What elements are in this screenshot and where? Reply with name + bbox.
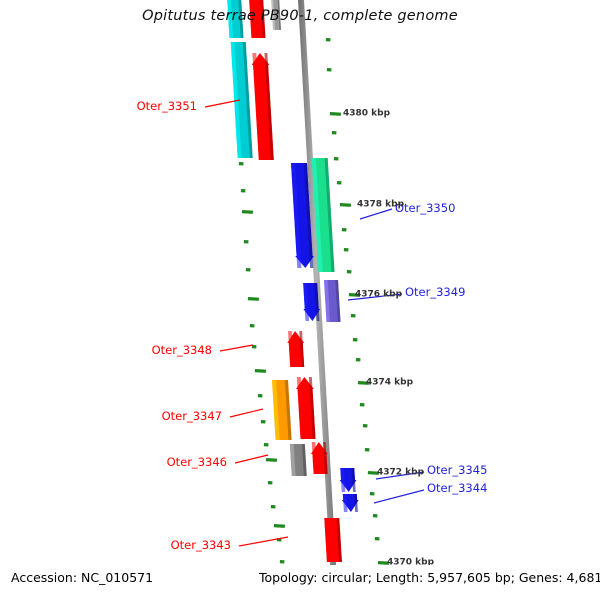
green-tick-right-2 xyxy=(330,112,341,116)
gene-slate-3349[interactable] xyxy=(324,280,341,322)
green-tick-left-17 xyxy=(271,505,276,508)
scale-label-4: 4372 kbp xyxy=(377,468,425,478)
green-tick-right-9 xyxy=(347,270,352,273)
leader-line-Oter_3347 xyxy=(230,409,263,417)
genome-viewer-window: Opitutus terrae PB90-1, complete genome … xyxy=(0,0,600,600)
green-tick-left-13 xyxy=(261,420,266,423)
green-tick-left-11 xyxy=(255,369,266,373)
green-tick-right-11 xyxy=(351,314,356,317)
gene-blue-3344-shadow xyxy=(354,494,358,512)
gene-label-Oter_3351[interactable]: Oter_3351 xyxy=(137,99,197,113)
topology-text: Topology: circular; Length: 5,957,605 bp… xyxy=(259,570,600,585)
gene-label-Oter_3347[interactable]: Oter_3347 xyxy=(162,409,222,423)
gene-cyan-3351[interactable] xyxy=(231,42,253,158)
green-tick-left-3 xyxy=(239,162,244,165)
green-tick-left-15 xyxy=(266,458,277,462)
gene-label-Oter_3345[interactable]: Oter_3345 xyxy=(427,463,487,477)
gene-red-3346b[interactable] xyxy=(311,442,328,474)
scale-label-3: 4374 kbp xyxy=(366,378,414,388)
green-tick-right-6 xyxy=(340,203,351,207)
green-tick-right-0 xyxy=(326,38,331,41)
green-tick-left-12 xyxy=(258,394,263,397)
gene-label-Oter_3348[interactable]: Oter_3348 xyxy=(152,343,212,357)
green-tick-left-4 xyxy=(241,189,246,192)
gene-label-Oter_3344[interactable]: Oter_3344 xyxy=(427,481,487,495)
green-tick-right-7 xyxy=(342,228,347,231)
green-tick-right-15 xyxy=(360,403,365,406)
scale-label-1: 4378 kbp xyxy=(357,200,405,210)
scale-label-2: 4376 kbp xyxy=(355,290,403,300)
accession-text: Accession: NC_010571 xyxy=(11,570,153,585)
status-bar: Accession: NC_010571 Topology: circular;… xyxy=(0,570,600,592)
gene-label-Oter_3343[interactable]: Oter_3343 xyxy=(171,538,231,552)
leader-line-Oter_3350 xyxy=(360,209,392,219)
gene-label-Oter_3346[interactable]: Oter_3346 xyxy=(167,455,227,469)
green-tick-left-18 xyxy=(274,524,285,528)
scale-label-5: 4370 kbp xyxy=(387,558,435,566)
gene-blue-3344[interactable] xyxy=(342,494,359,512)
gene-label-Oter_3349[interactable]: Oter_3349 xyxy=(405,285,465,299)
green-tick-left-6 xyxy=(244,240,249,243)
green-tick-left-5 xyxy=(242,210,253,214)
leader-line-Oter_3346 xyxy=(235,455,268,463)
green-tick-right-20 xyxy=(373,514,378,517)
gene-gray-3346[interactable] xyxy=(290,444,307,476)
gene-blue-3345[interactable] xyxy=(340,468,357,492)
green-tick-left-16 xyxy=(268,481,273,484)
green-tick-right-16 xyxy=(363,424,368,427)
gene-red-3343[interactable] xyxy=(324,518,342,562)
green-tick-right-3 xyxy=(332,131,337,134)
green-tick-left-9 xyxy=(250,324,255,327)
green-tick-left-7 xyxy=(246,268,251,271)
green-tick-right-8 xyxy=(344,248,349,251)
green-tick-right-21 xyxy=(375,537,380,540)
genome-plot-area[interactable]: Oter_3351Oter_3348Oter_3347Oter_3346Oter… xyxy=(0,0,600,565)
leader-line-Oter_3344 xyxy=(374,490,424,503)
leader-line-Oter_3348 xyxy=(220,345,253,351)
green-tick-right-12 xyxy=(353,338,358,341)
green-tick-right-1 xyxy=(327,68,332,71)
green-tick-left-14 xyxy=(264,443,269,446)
green-tick-left-20 xyxy=(280,560,285,563)
gene-red-3347b[interactable] xyxy=(296,377,315,439)
green-tick-right-19 xyxy=(370,492,375,495)
green-tick-right-13 xyxy=(356,358,361,361)
scale-label-0: 4380 kbp xyxy=(343,109,391,119)
gene-orange-3347[interactable] xyxy=(272,380,292,440)
leader-line-Oter_3343 xyxy=(239,537,288,546)
genome-plot-svg[interactable]: Oter_3351Oter_3348Oter_3347Oter_3346Oter… xyxy=(0,0,600,565)
gene-red-3351b[interactable] xyxy=(252,53,274,160)
page-title: Opitutus terrae PB90-1, complete genome xyxy=(0,8,600,24)
green-tick-left-8 xyxy=(248,297,259,301)
green-tick-right-17 xyxy=(365,448,370,451)
gene-red-3348[interactable] xyxy=(287,331,304,367)
green-tick-right-4 xyxy=(334,157,339,160)
green-tick-right-5 xyxy=(337,181,342,184)
gene-feature-layer[interactable] xyxy=(227,0,359,562)
